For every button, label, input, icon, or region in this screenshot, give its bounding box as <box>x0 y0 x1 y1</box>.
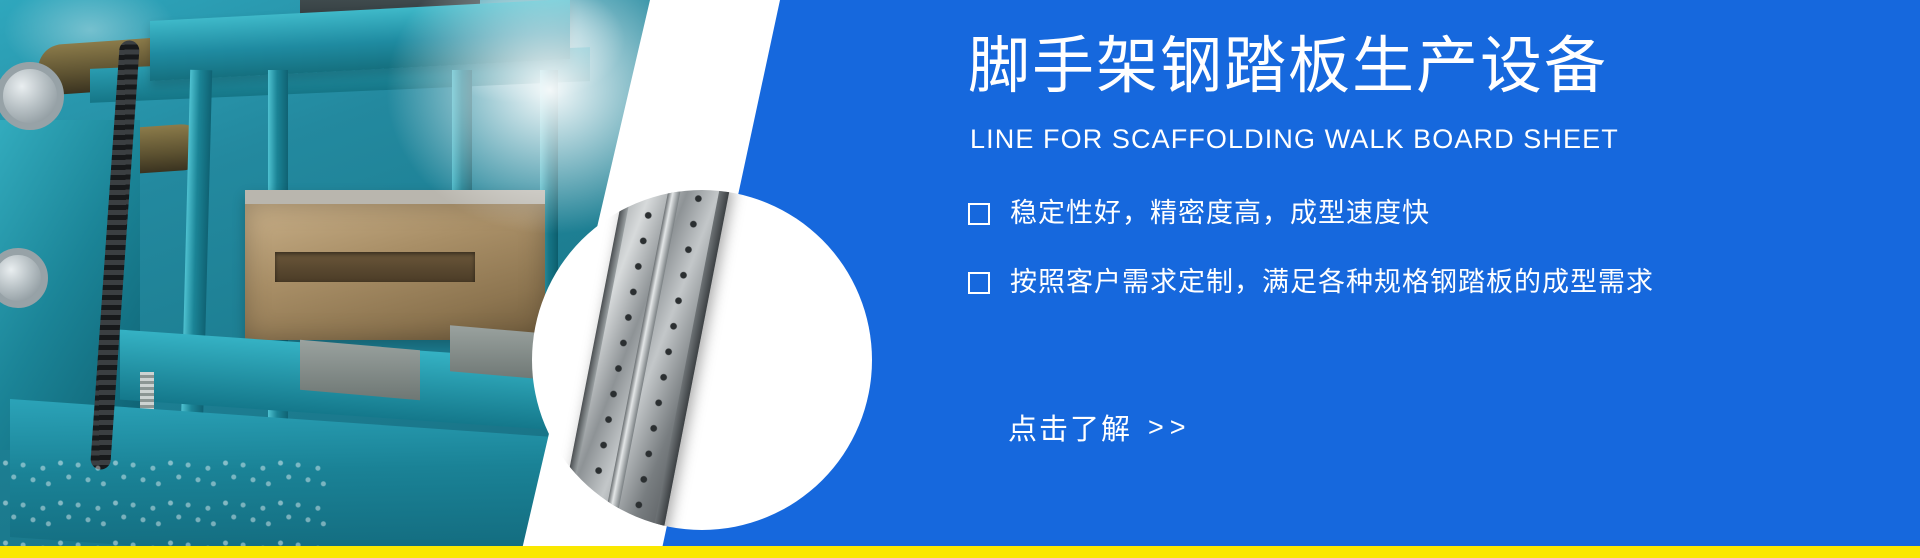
machine-die-slot <box>275 252 475 282</box>
square-outline-icon <box>968 203 990 225</box>
machine-metal-chips <box>0 455 330 555</box>
feature-item: 稳定性好，精密度高，成型速度快 <box>968 200 1868 227</box>
bottom-accent-strip <box>0 546 1920 558</box>
feature-item: 按照客户需求定制，满足各种规格钢踏板的成型需求 <box>968 269 1868 296</box>
learn-more-link[interactable]: 点击了解 >> <box>1008 406 1192 448</box>
banner-content: 脚手架钢踏板生产设备 LINE FOR SCAFFOLDING WALK BOA… <box>968 0 1868 558</box>
learn-more-label: 点击了解 <box>1008 406 1132 448</box>
double-chevron-right-icon: >> <box>1148 412 1192 443</box>
promo-banner: 脚手架钢踏板生产设备 LINE FOR SCAFFOLDING WALK BOA… <box>0 0 1920 558</box>
product-circle <box>532 190 872 530</box>
banner-title-cn: 脚手架钢踏板生产设备 <box>968 34 1608 100</box>
banner-title-en: LINE FOR SCAFFOLDING WALK BOARD SHEET <box>970 124 1619 155</box>
feature-list: 稳定性好，精密度高，成型速度快 按照客户需求定制，满足各种规格钢踏板的成型需求 <box>968 200 1868 338</box>
plank-perforations <box>553 190 731 530</box>
feature-label: 稳定性好，精密度高，成型速度快 <box>1010 200 1430 227</box>
square-outline-icon <box>968 272 990 294</box>
feature-label: 按照客户需求定制，满足各种规格钢踏板的成型需求 <box>1010 269 1654 296</box>
steel-plank-image <box>553 190 731 530</box>
machine-foot-left <box>300 340 420 400</box>
